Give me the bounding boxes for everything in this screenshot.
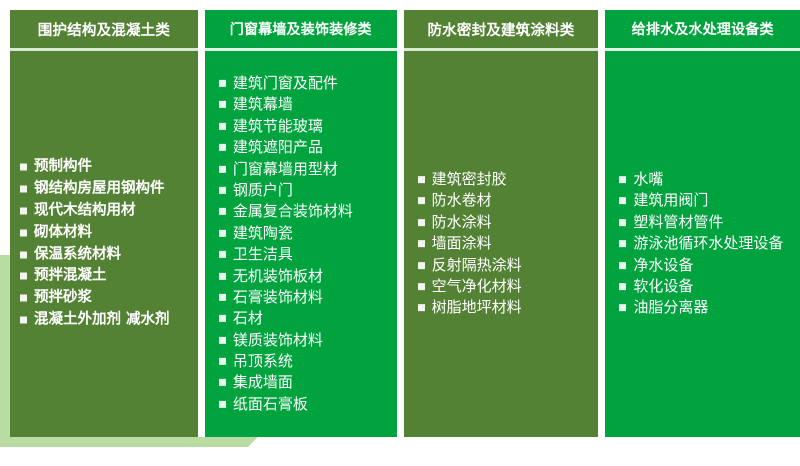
list-item-label: 砌体材料 <box>34 224 92 240</box>
bullet-square-icon <box>20 207 27 214</box>
bullet-square-icon <box>20 251 27 258</box>
list-item-label: 金属复合装饰材料 <box>233 202 353 220</box>
bullet-square-icon <box>619 240 626 247</box>
bullet-square-icon <box>20 185 27 192</box>
bullet-square-icon <box>418 176 425 183</box>
bullet-square-icon <box>418 304 425 311</box>
column-body-4: 水嘴 建筑用阀门 塑料管材管件 游泳池循环水处理设备 净水设备 软化设备 油脂分… <box>605 51 800 437</box>
list-item-label: 油脂分离器 <box>633 298 708 316</box>
list-item-label: 建筑门窗及配件 <box>233 74 338 92</box>
bullet-square-icon <box>619 283 626 290</box>
list-item-label: 镁质装饰材料 <box>233 331 323 349</box>
column-header-2: 门窗幕墙及装饰装修类 <box>205 10 397 48</box>
list-item[interactable]: 钢质户门 <box>217 180 393 200</box>
list-item[interactable]: 门窗幕墙用型材 <box>217 158 393 178</box>
bullet-square-icon <box>20 273 27 280</box>
bullet-square-icon <box>20 229 27 236</box>
category-columns: 围护结构及混凝土类 预制构件 钢结构房屋用钢构件 现代木结构用材 砌体材料 保温… <box>10 10 800 437</box>
list-item[interactable]: 钢结构房屋用钢构件 <box>18 178 194 199</box>
column-body-3: 建筑密封胶 防水卷材 防水涂料 墙面涂料 反射隔热涂料 空气净化材料 树脂地坪材… <box>404 51 599 437</box>
list-item[interactable]: 无机装饰板材 <box>217 265 393 285</box>
list-item-label: 吊顶系统 <box>233 352 293 370</box>
list-item[interactable]: 金属复合装饰材料 <box>217 201 393 221</box>
list-item-label: 水嘴 <box>633 170 663 188</box>
bullet-square-icon <box>219 379 226 386</box>
bullet-square-icon <box>619 176 626 183</box>
list-item-label: 石膏装饰材料 <box>233 288 323 306</box>
list-item-label: 墙面涂料 <box>432 234 492 252</box>
list-item-label: 保温系统材料 <box>34 246 121 262</box>
bullet-square-icon <box>219 315 226 322</box>
bullet-square-icon <box>418 240 425 247</box>
category-list-1: 预制构件 钢结构房屋用钢构件 现代木结构用材 砌体材料 保温系统材料 预拌混凝土… <box>10 157 198 332</box>
bullet-square-icon <box>418 283 425 290</box>
list-item[interactable]: 反射隔热涂料 <box>416 255 595 275</box>
bullet-square-icon <box>418 262 425 269</box>
bullet-square-icon <box>219 401 226 408</box>
list-item[interactable]: 混凝土外加剂 减水剂 <box>18 310 194 331</box>
list-item-label: 建筑密封胶 <box>432 170 507 188</box>
list-item[interactable]: 建筑用阀门 <box>617 191 796 211</box>
list-item[interactable]: 建筑陶瓷 <box>217 223 393 243</box>
bullet-square-icon <box>219 80 226 87</box>
category-board: 围护结构及混凝土类 预制构件 钢结构房屋用钢构件 现代木结构用材 砌体材料 保温… <box>0 0 800 466</box>
list-item-label: 反射隔热涂料 <box>432 256 522 274</box>
list-item-label: 建筑幕墙 <box>233 95 293 113</box>
bullet-square-icon <box>219 101 226 108</box>
bullet-square-icon <box>418 198 425 205</box>
bullet-square-icon <box>20 164 27 171</box>
list-item[interactable]: 预拌混凝土 <box>18 266 194 287</box>
column-header-3: 防水密封及建筑涂料类 <box>404 10 599 48</box>
column-header-1: 围护结构及混凝土类 <box>10 10 198 48</box>
list-item[interactable]: 预拌砂浆 <box>18 288 194 309</box>
list-item-label: 塑料管材管件 <box>633 213 723 231</box>
list-item-label: 预拌砂浆 <box>34 290 92 306</box>
bullet-square-icon <box>619 304 626 311</box>
list-item[interactable]: 镁质装饰材料 <box>217 330 393 350</box>
list-item[interactable]: 建筑遮阳产品 <box>217 137 393 157</box>
list-item-label: 防水涂料 <box>432 213 492 231</box>
bullet-square-icon <box>219 144 226 151</box>
bullet-square-icon <box>20 295 27 302</box>
list-item-label: 卫生洁具 <box>233 245 293 263</box>
list-item-label: 门窗幕墙用型材 <box>233 159 338 177</box>
list-item[interactable]: 纸面石膏板 <box>217 394 393 414</box>
list-item-label: 纸面石膏板 <box>233 395 308 413</box>
list-item-label: 建筑陶瓷 <box>233 224 293 242</box>
list-item[interactable]: 石膏装饰材料 <box>217 287 393 307</box>
list-item-label: 预制构件 <box>34 159 92 175</box>
category-column-4: 给排水及水处理设备类 水嘴 建筑用阀门 塑料管材管件 游泳池循环水处理设备 净水… <box>605 10 800 437</box>
list-item-label: 建筑遮阳产品 <box>233 138 323 156</box>
list-item-label: 游泳池循环水处理设备 <box>633 234 783 252</box>
list-item[interactable]: 防水卷材 <box>416 191 595 211</box>
list-item[interactable]: 现代木结构用材 <box>18 200 194 221</box>
column-gap <box>198 10 205 437</box>
category-list-2: 建筑门窗及配件 建筑幕墙 建筑节能玻璃 建筑遮阳产品 门窗幕墙用型材 钢质户门 … <box>205 73 397 415</box>
bullet-square-icon <box>219 294 226 301</box>
category-list-3: 建筑密封胶 防水卷材 防水涂料 墙面涂料 反射隔热涂料 空气净化材料 树脂地坪材… <box>404 169 599 319</box>
column-gap <box>598 10 605 437</box>
bullet-square-icon <box>219 358 226 365</box>
category-column-1: 围护结构及混凝土类 预制构件 钢结构房屋用钢构件 现代木结构用材 砌体材料 保温… <box>10 10 198 437</box>
list-item-label: 无机装饰板材 <box>233 266 323 284</box>
list-item-label: 钢结构房屋用钢构件 <box>34 180 165 196</box>
list-item[interactable]: 水嘴 <box>617 169 796 189</box>
column-body-2: 建筑门窗及配件 建筑幕墙 建筑节能玻璃 建筑遮阳产品 门窗幕墙用型材 钢质户门 … <box>205 51 397 437</box>
column-gap <box>397 10 404 437</box>
list-item-label: 石材 <box>233 309 263 327</box>
list-item[interactable]: 油脂分离器 <box>617 297 796 317</box>
column-body-1: 预制构件 钢结构房屋用钢构件 现代木结构用材 砌体材料 保温系统材料 预拌混凝土… <box>10 51 198 437</box>
list-item-label: 防水卷材 <box>432 192 492 210</box>
bullet-square-icon <box>219 337 226 344</box>
bullet-square-icon <box>219 187 226 194</box>
list-item[interactable]: 建筑节能玻璃 <box>217 116 393 136</box>
bullet-square-icon <box>219 251 226 258</box>
bullet-square-icon <box>219 208 226 215</box>
category-list-4: 水嘴 建筑用阀门 塑料管材管件 游泳池循环水处理设备 净水设备 软化设备 油脂分… <box>605 169 800 319</box>
list-item-label: 混凝土外加剂 减水剂 <box>34 312 170 328</box>
bullet-square-icon <box>619 198 626 205</box>
list-item[interactable]: 树脂地坪材料 <box>416 297 595 317</box>
list-item-label: 预拌混凝土 <box>34 268 107 284</box>
list-item[interactable]: 净水设备 <box>617 255 796 275</box>
list-item[interactable]: 石材 <box>217 308 393 328</box>
list-item[interactable]: 保温系统材料 <box>18 244 194 265</box>
list-item[interactable]: 集成墙面 <box>217 372 393 392</box>
list-item-label: 建筑用阀门 <box>633 192 708 210</box>
list-item-label: 软化设备 <box>633 277 693 295</box>
list-item-label: 现代木结构用材 <box>34 202 136 218</box>
list-item-label: 净水设备 <box>633 256 693 274</box>
list-item[interactable]: 卫生洁具 <box>217 244 393 264</box>
list-item[interactable]: 软化设备 <box>617 276 796 296</box>
bullet-square-icon <box>219 230 226 237</box>
bullet-square-icon <box>418 219 425 226</box>
bullet-square-icon <box>219 272 226 279</box>
list-item-label: 钢质户门 <box>233 181 293 199</box>
list-item[interactable]: 预制构件 <box>18 157 194 178</box>
bullet-square-icon <box>219 123 226 130</box>
list-item[interactable]: 游泳池循环水处理设备 <box>617 233 796 253</box>
column-header-4: 给排水及水处理设备类 <box>605 10 800 48</box>
list-item[interactable]: 墙面涂料 <box>416 233 595 253</box>
list-item[interactable]: 防水涂料 <box>416 212 595 232</box>
bullet-square-icon <box>219 165 226 172</box>
bullet-square-icon <box>20 317 27 324</box>
list-item[interactable]: 砌体材料 <box>18 222 194 243</box>
list-item-label: 树脂地坪材料 <box>432 298 522 316</box>
list-item-label: 建筑节能玻璃 <box>233 117 323 135</box>
list-item[interactable]: 塑料管材管件 <box>617 212 796 232</box>
bullet-square-icon <box>619 262 626 269</box>
category-column-3: 防水密封及建筑涂料类 建筑密封胶 防水卷材 防水涂料 墙面涂料 反射隔热涂料 空… <box>404 10 599 437</box>
bullet-square-icon <box>619 219 626 226</box>
category-column-2: 门窗幕墙及装饰装修类 建筑门窗及配件 建筑幕墙 建筑节能玻璃 建筑遮阳产品 门窗… <box>205 10 397 437</box>
list-item[interactable]: 建筑幕墙 <box>217 94 393 114</box>
list-item[interactable]: 吊顶系统 <box>217 351 393 371</box>
list-item-label: 空气净化材料 <box>432 277 522 295</box>
list-item[interactable]: 空气净化材料 <box>416 276 595 296</box>
list-item-label: 集成墙面 <box>233 373 293 391</box>
list-item[interactable]: 建筑密封胶 <box>416 169 595 189</box>
list-item[interactable]: 建筑门窗及配件 <box>217 73 393 93</box>
